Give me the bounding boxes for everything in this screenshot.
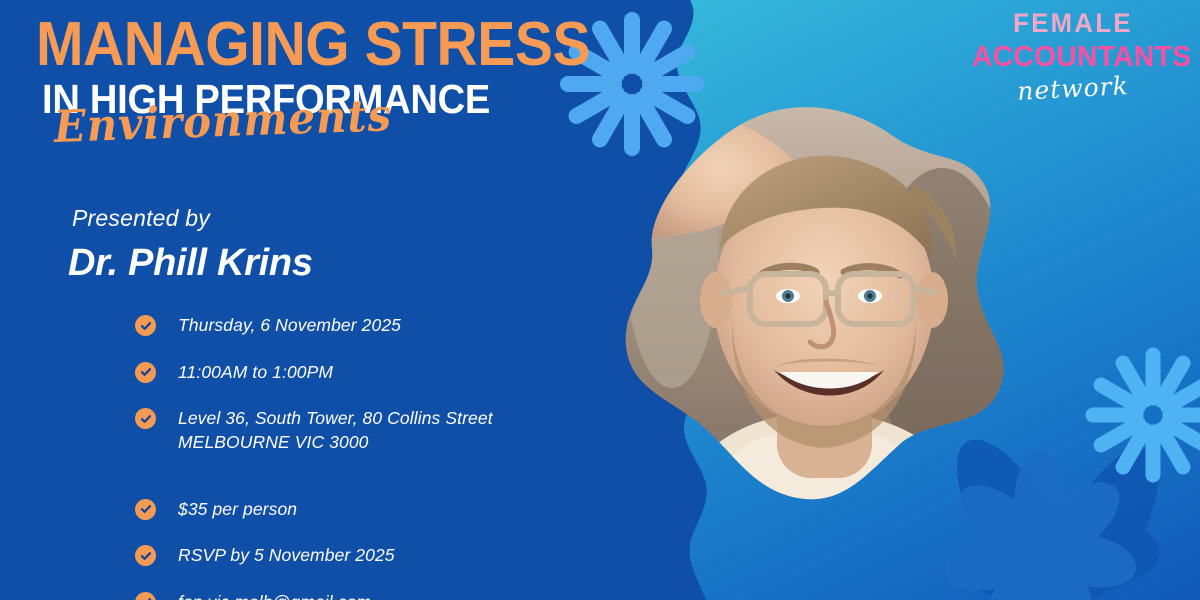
detail-text: RSVP by 5 November 2025 [178, 544, 395, 568]
presented-by-label: Presented by [72, 205, 313, 232]
event-poster: MANAGING STRESS IN HIGH PERFORMANCE Envi… [0, 0, 1200, 600]
presenter-block: Presented by Dr. Phill Krins [72, 205, 313, 285]
logo-line-accountants: ACCOUNTANTS [972, 41, 1174, 74]
list-item: $35 per person [135, 498, 605, 522]
check-circle-icon [135, 362, 156, 383]
detail-text: 11:00AM to 1:00PM [178, 361, 333, 385]
check-circle-icon [135, 315, 156, 336]
starburst-icon [1078, 340, 1200, 490]
check-circle-icon [135, 592, 156, 600]
check-circle-icon [135, 408, 156, 429]
list-item: Level 36, South Tower, 80 Collins Street… [135, 407, 605, 454]
list-item: fan.vic.melb@gmail.com [135, 591, 605, 600]
title-line-1: MANAGING STRESS [36, 16, 551, 73]
detail-text: Thursday, 6 November 2025 [178, 314, 401, 338]
contact-email[interactable]: fan.vic.melb@gmail.com [178, 591, 371, 600]
check-circle-icon [135, 545, 156, 566]
list-item: Thursday, 6 November 2025 [135, 314, 605, 338]
logo-line-female: FEMALE [973, 8, 1173, 39]
list-item: 11:00AM to 1:00PM [135, 361, 605, 385]
presenter-portrait [612, 88, 1012, 508]
presenter-name: Dr. Phill Krins [68, 242, 313, 285]
check-circle-icon [135, 499, 156, 520]
headline-block: MANAGING STRESS IN HIGH PERFORMANCE Envi… [36, 16, 596, 150]
logo-line-network: network [967, 69, 1178, 109]
detail-text: $35 per person [178, 498, 297, 522]
detail-text: Level 36, South Tower, 80 Collins Street… [178, 407, 493, 454]
list-item: RSVP by 5 November 2025 [135, 544, 605, 568]
event-details-list: Thursday, 6 November 2025 11:00AM to 1:0… [135, 314, 605, 600]
brand-logo: FEMALE ACCOUNTANTS network [968, 8, 1178, 103]
